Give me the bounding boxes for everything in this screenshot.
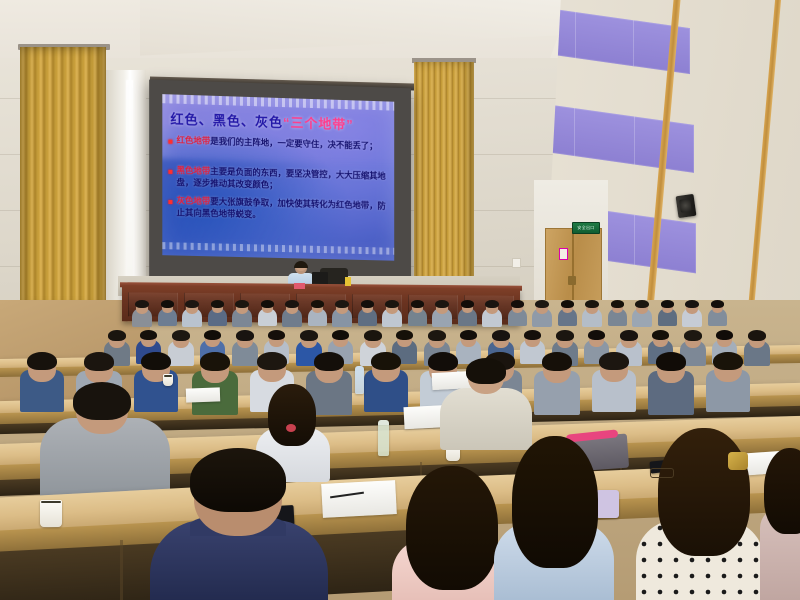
hair: [658, 428, 750, 556]
hair: [716, 330, 734, 340]
hair: [585, 300, 599, 308]
attendee: [258, 300, 277, 329]
attendee: [632, 300, 652, 330]
bullet-text: 是我们的主阵地，一定要守住，决不能丢了；: [210, 136, 377, 151]
water-bottle: [378, 420, 389, 456]
hair: [461, 300, 475, 308]
hair-clip: [728, 452, 748, 470]
attendee: [282, 300, 302, 330]
slide-title-highlight: “三个地带”: [283, 115, 354, 132]
hair: [332, 330, 350, 340]
hair: [411, 300, 425, 308]
hair: [235, 300, 249, 308]
bullet-marker-icon: [168, 140, 172, 144]
bullet-marker-icon: [168, 200, 172, 204]
right-curtain: [414, 62, 474, 310]
attendee: [208, 300, 227, 329]
podium-yellow-item: [345, 277, 351, 286]
hair: [535, 300, 549, 308]
hair: [524, 330, 542, 340]
door-handle[interactable]: [568, 276, 576, 285]
attendee: [534, 352, 580, 421]
hair: [268, 330, 286, 340]
hair: [84, 352, 115, 371]
hair: [140, 330, 158, 340]
hair: [27, 352, 56, 370]
bullet-lead: 灰色地带: [176, 195, 210, 206]
notebook: [321, 480, 397, 518]
left-curtain: [20, 47, 106, 309]
hair: [656, 352, 687, 371]
hair: [512, 436, 598, 568]
attendee: [332, 300, 352, 330]
attendee: [232, 300, 252, 330]
attendee: [558, 300, 577, 329]
hair: [285, 300, 299, 308]
attendee: [408, 300, 427, 329]
hair: [311, 300, 325, 308]
paper-cup: [40, 500, 62, 527]
hair: [561, 300, 575, 308]
attendee: [358, 300, 377, 329]
hair: [685, 300, 699, 308]
torso: [440, 388, 532, 450]
hair: [428, 352, 459, 371]
presentation-slide: 红色、黑色、灰色“三个地带” 红色地带是我们的主阵地，一定要守住，决不能丢了； …: [162, 94, 394, 261]
notebook: [186, 387, 220, 402]
attendee: [158, 300, 177, 329]
hair: [335, 300, 349, 308]
hair: [172, 330, 190, 341]
hair: [435, 300, 449, 308]
hair: [620, 330, 638, 341]
hair: [371, 352, 400, 370]
hair: [466, 358, 506, 384]
paper-cup: [163, 374, 173, 386]
eyeglasses-icon: [650, 468, 674, 478]
attendee: [458, 300, 477, 329]
attendee: [592, 352, 636, 418]
hair: [261, 300, 275, 308]
attendee: [364, 352, 408, 418]
attendee: [432, 300, 452, 330]
hair: [556, 330, 574, 341]
slide-title: 红色、黑色、灰色“三个地带”: [170, 108, 388, 134]
hair: [211, 300, 225, 308]
hair: [748, 330, 766, 341]
hair: [135, 300, 149, 308]
wall-speaker: [676, 194, 697, 218]
hair: [314, 352, 345, 371]
attendee: [682, 300, 702, 330]
hair: [485, 300, 499, 308]
hair: [711, 300, 725, 308]
podium-red-item: [294, 283, 305, 289]
attendee: [648, 352, 694, 421]
hair: [190, 448, 286, 512]
hair: [385, 300, 399, 308]
hair: [364, 330, 382, 341]
hair: [588, 330, 606, 340]
attendee: [132, 300, 152, 330]
hair: [257, 352, 286, 370]
hair: [599, 352, 628, 370]
slide-title-plain: 红色、黑色、灰色: [170, 111, 283, 130]
hair: [268, 384, 316, 446]
hair: [611, 300, 625, 308]
slide-top-band: [162, 94, 394, 111]
hair: [684, 330, 702, 341]
attendee: [382, 300, 402, 330]
hair: [200, 352, 231, 371]
bullet-lead: 黑色地带: [176, 165, 210, 176]
attendee: [508, 300, 527, 329]
hair: [236, 330, 254, 341]
hair: [635, 300, 649, 308]
hair: [460, 330, 478, 340]
water-bottle: [355, 366, 364, 394]
slide-bullet: 红色地带是我们的主阵地，一定要守住，决不能丢了；: [168, 135, 390, 153]
hair: [161, 300, 175, 308]
presenter-hair: [294, 261, 308, 268]
hair: [764, 448, 800, 534]
hair: [652, 330, 670, 340]
attendee: [658, 300, 677, 329]
attendee: [482, 300, 502, 330]
hair: [185, 300, 199, 308]
hair: [300, 330, 318, 341]
hair: [204, 330, 222, 340]
attendee: [608, 300, 627, 329]
hair: [141, 352, 170, 370]
desk-divider: [120, 540, 123, 600]
light-switch[interactable]: [512, 258, 521, 268]
door-notice-sticker: [559, 248, 568, 260]
hair: [511, 300, 525, 308]
hair: [428, 330, 446, 341]
hair: [406, 466, 498, 590]
hair: [73, 382, 131, 420]
attendee: [20, 352, 64, 418]
attendee: [192, 352, 238, 421]
hair: [361, 300, 375, 308]
hair: [396, 330, 414, 340]
hair: [542, 352, 573, 371]
bullet-lead: 红色地带: [176, 135, 210, 146]
hair: [713, 352, 742, 370]
hair-tie: [286, 424, 296, 432]
hair: [661, 300, 675, 308]
attendee: [532, 300, 552, 330]
bullet-marker-icon: [168, 170, 172, 174]
attendee: [308, 300, 327, 329]
attendee: [182, 300, 202, 330]
hair: [108, 330, 126, 341]
projection-screen: 红色、黑色、灰色“三个地带” 红色地带是我们的主阵地，一定要守住，决不能丢了； …: [149, 80, 411, 287]
hair: [492, 330, 510, 341]
attendee: [582, 300, 602, 330]
attendee: [708, 300, 727, 329]
attendee: [706, 352, 750, 418]
exit-sign-label: 安全出口: [577, 225, 594, 231]
lecture-hall-photo: 安全出口 红色、黑色、灰色“三个地带” 红色地带是我们的主阵地，一定要守住，决不…: [0, 0, 800, 600]
emergency-exit-sign: 安全出口: [572, 222, 600, 234]
smartphone[interactable]: [596, 490, 619, 518]
